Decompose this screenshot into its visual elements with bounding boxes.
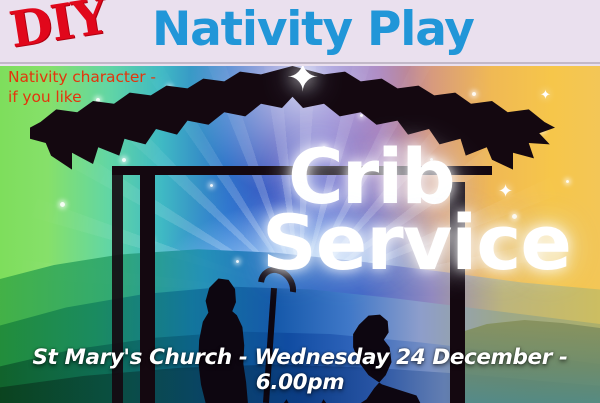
diy-label: DIY	[6, 0, 110, 55]
costume-note-line-4: if you like	[8, 87, 223, 107]
header-band: DIY Nativity Play	[0, 0, 600, 66]
main-title-line-2: Service	[262, 205, 571, 281]
header-divider	[0, 62, 600, 64]
nativity-poster: ✦ ✦ ✦ Crib Service Come dressed as your …	[0, 0, 600, 403]
page-title: Nativity Play	[152, 1, 474, 60]
event-details-text: St Mary's Church - Wednesday 24 December…	[32, 345, 567, 395]
costume-note-line-3: Nativity character -	[8, 67, 223, 87]
event-details-banner: St Mary's Church - Wednesday 24 December…	[0, 345, 600, 395]
guiding-star-icon: ✦	[286, 62, 320, 98]
